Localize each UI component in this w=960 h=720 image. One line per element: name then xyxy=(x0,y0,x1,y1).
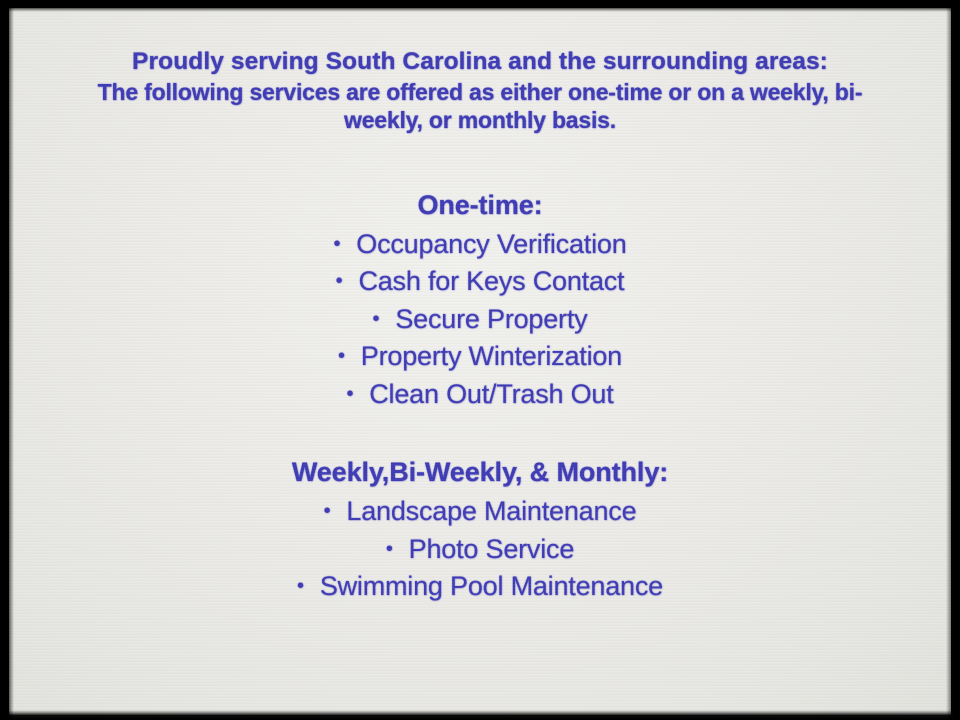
video-frame: Proudly serving South Carolina and the s… xyxy=(0,0,960,720)
section-weekly-bi-weekly-monthly: Weekly,Bi-Weekly, & Monthly: •Landscape … xyxy=(9,457,951,606)
slide-canvas: Proudly serving South Carolina and the s… xyxy=(9,8,951,715)
list-item-label: Property Winterization xyxy=(361,341,622,371)
header-line-services-offered: The following services are offered as ei… xyxy=(9,79,951,106)
section-heading-weekly-bi-weekly-monthly: Weekly,Bi-Weekly, & Monthly: xyxy=(9,457,951,488)
list-item: •Swimming Pool Maintenance xyxy=(9,568,951,606)
service-list-weekly: •Landscape Maintenance •Photo Service •S… xyxy=(9,493,951,606)
service-sections: One-time: •Occupancy Verification •Cash … xyxy=(9,190,951,606)
header-line-basis: weekly, or monthly basis. xyxy=(9,107,951,134)
list-item-label: Cash for Keys Contact xyxy=(358,266,624,296)
header-block: Proudly serving South Carolina and the s… xyxy=(9,8,951,134)
bullet-icon: • xyxy=(336,268,343,296)
bullet-icon: • xyxy=(338,343,345,371)
bullet-icon: • xyxy=(346,381,353,409)
list-item: •Landscape Maintenance xyxy=(9,493,951,531)
list-item: •Occupancy Verification xyxy=(9,226,951,264)
list-item-label: Secure Property xyxy=(395,304,587,334)
bullet-icon: • xyxy=(333,231,340,259)
bullet-icon: • xyxy=(324,498,331,526)
bullet-icon: • xyxy=(297,573,304,601)
list-item-label: Photo Service xyxy=(409,534,575,564)
list-item-label: Swimming Pool Maintenance xyxy=(320,571,663,601)
list-item: •Clean Out/Trash Out xyxy=(9,376,951,414)
section-one-time: One-time: •Occupancy Verification •Cash … xyxy=(9,190,951,414)
list-item-label: Clean Out/Trash Out xyxy=(369,379,613,409)
list-item-label: Occupancy Verification xyxy=(356,229,626,259)
bullet-icon: • xyxy=(386,536,393,564)
bullet-icon: • xyxy=(373,306,380,334)
header-line-serving-area: Proudly serving South Carolina and the s… xyxy=(9,48,951,76)
list-item: •Photo Service xyxy=(9,531,951,569)
list-item: •Secure Property xyxy=(9,301,951,339)
slide-content: Proudly serving South Carolina and the s… xyxy=(9,8,951,715)
service-list-one-time: •Occupancy Verification •Cash for Keys C… xyxy=(9,226,951,414)
list-item: •Cash for Keys Contact xyxy=(9,263,951,301)
section-heading-one-time: One-time: xyxy=(9,190,951,221)
list-item: •Property Winterization xyxy=(9,338,951,376)
list-item-label: Landscape Maintenance xyxy=(346,496,636,526)
